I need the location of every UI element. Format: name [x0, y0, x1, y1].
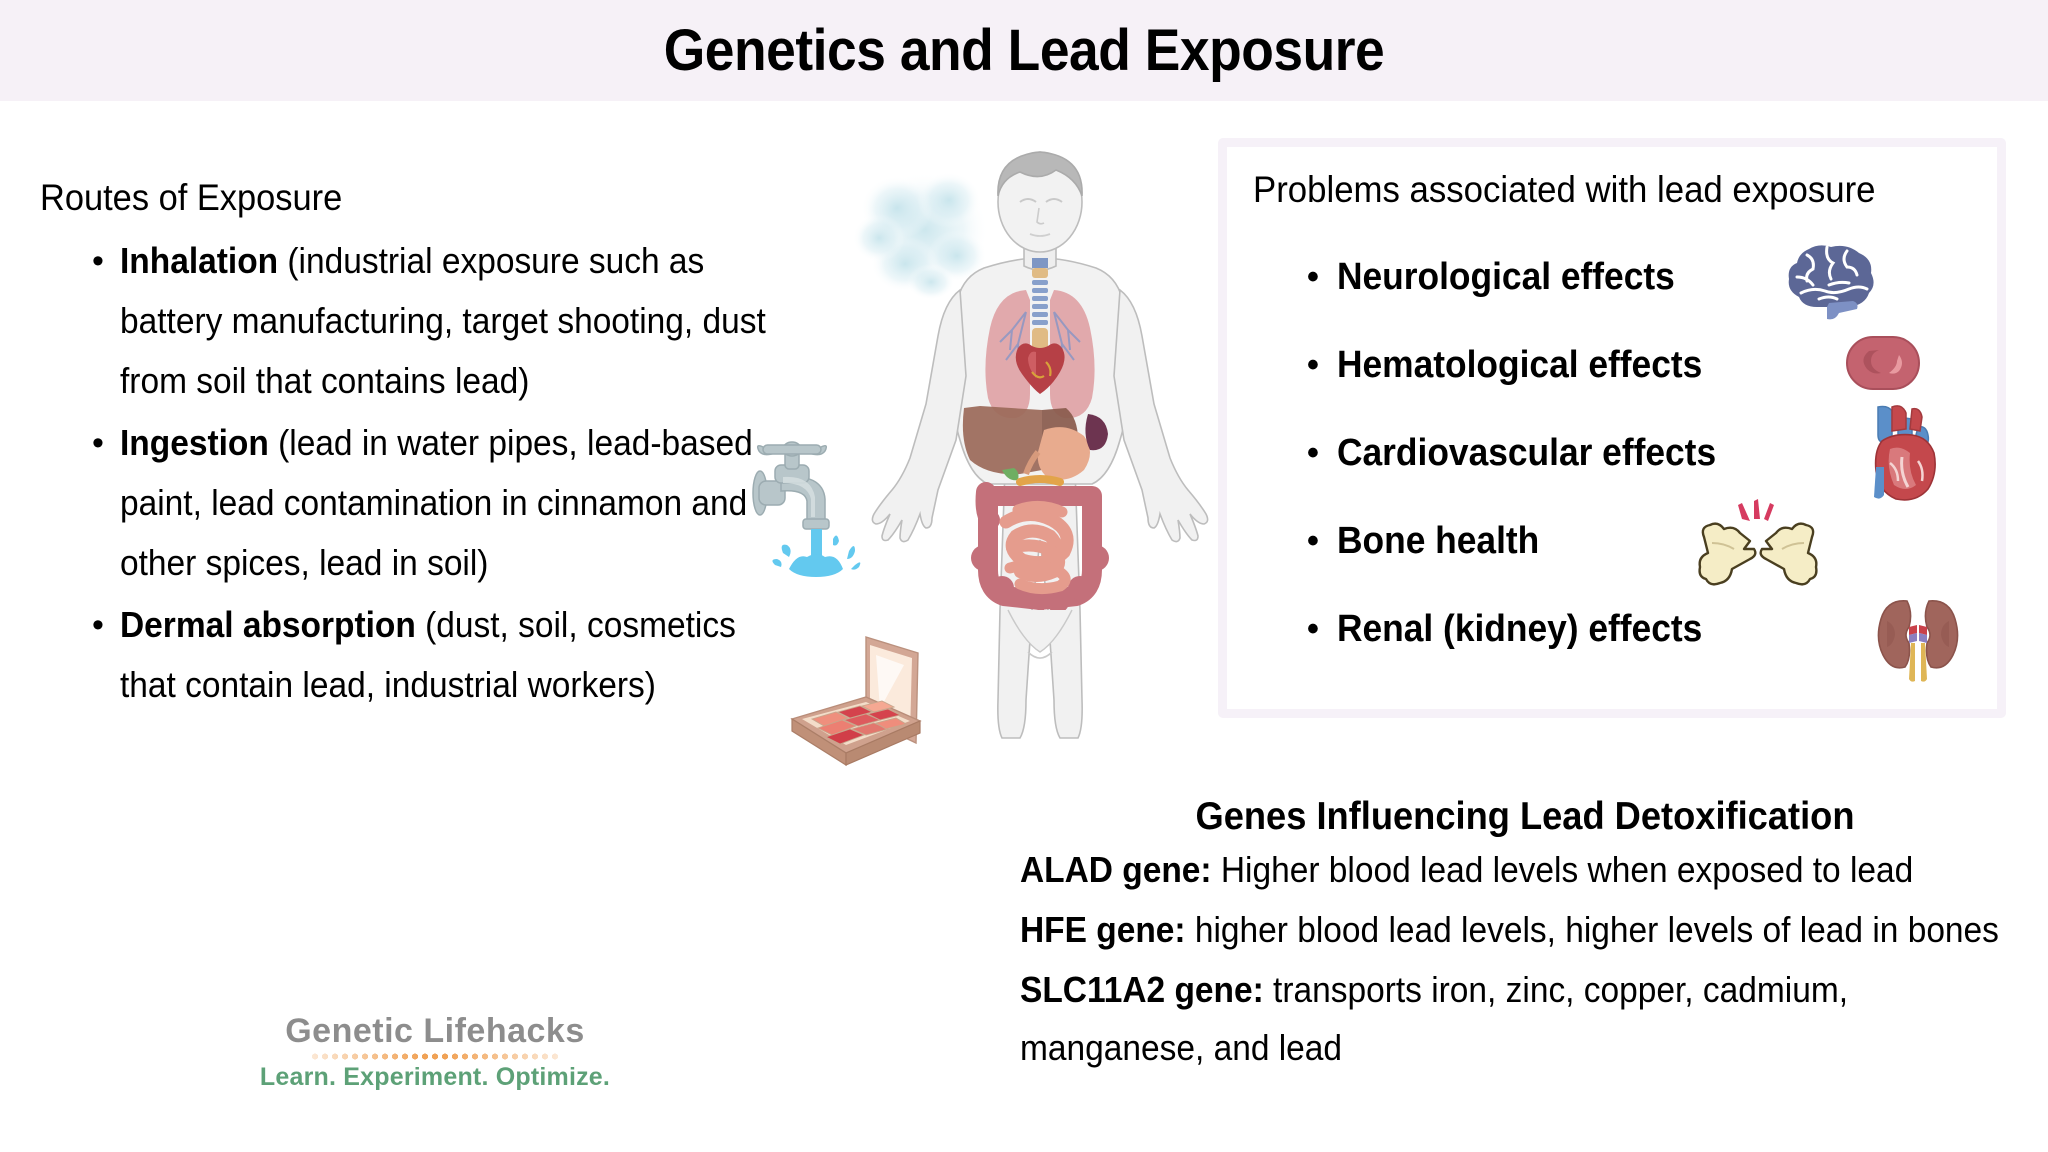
list-item: Neurological effects [1273, 247, 1973, 335]
gene-name: ALAD gene: [1020, 849, 1212, 890]
routes-list: Inhalation (industrial exposure such as … [40, 231, 840, 715]
broken-bone-icon [1698, 499, 1818, 595]
list-item: Renal (kidney) effects [1273, 599, 1973, 687]
heart-icon [1868, 401, 1942, 505]
gene-entry: SLC11A2 gene: transports iron, zinc, cop… [1020, 961, 2030, 1077]
makeup-palette-illustration [780, 625, 940, 775]
list-item: Ingestion (lead in water pipes, lead-bas… [40, 413, 800, 593]
gene-entry: ALAD gene: Higher blood lead levels when… [1020, 841, 2030, 899]
route-term: Inhalation [120, 240, 278, 281]
problems-heading: Problems associated with lead exposure [1253, 169, 1876, 211]
kidneys-icon [1873, 593, 1963, 685]
header-bar: Genetics and Lead Exposure [0, 0, 2048, 101]
gene-name: HFE gene: [1020, 909, 1186, 950]
slide-canvas: Genetics and Lead Exposure Routes of Exp… [0, 0, 2048, 1152]
gene-description: higher blood lead levels, higher levels … [1186, 909, 1999, 950]
route-term: Dermal absorption [120, 604, 416, 645]
problems-panel: Problems associated with lead exposure N… [1218, 138, 2006, 718]
genes-section: Genes Influencing Lead Detoxification AL… [1020, 795, 2030, 1077]
problem-label: Renal (kidney) effects [1337, 599, 1702, 659]
logo-dot-divider [312, 1052, 558, 1061]
problems-list: Neurological effects [1273, 247, 1973, 687]
problem-label: Hematological effects [1337, 335, 1702, 395]
gene-entry: HFE gene: higher blood lead levels, high… [1020, 901, 2030, 959]
list-item: Bone health [1273, 511, 1973, 599]
page-title: Genetics and Lead Exposure [82, 0, 1966, 101]
routes-of-exposure-section: Routes of Exposure Inhalation (industria… [40, 175, 840, 717]
gene-name: SLC11A2 gene: [1020, 969, 1264, 1010]
red-blood-cell-icon [1843, 333, 1923, 393]
list-item: Inhalation (industrial exposure such as … [40, 231, 800, 411]
problem-label: Neurological effects [1337, 247, 1675, 307]
logo-name: Genetic Lifehacks [255, 1012, 615, 1051]
route-term: Ingestion [120, 422, 269, 463]
brain-icon [1783, 233, 1879, 321]
water-faucet-illustration [745, 425, 925, 585]
problem-label: Cardiovascular effects [1337, 423, 1716, 483]
problem-label: Bone health [1337, 511, 1539, 571]
routes-heading: Routes of Exposure [40, 175, 784, 221]
list-item: Dermal absorption (dust, soil, cosmetics… [40, 595, 800, 715]
logo-tagline: Learn. Experiment. Optimize. [255, 1063, 615, 1092]
list-item: Cardiovascular effects [1273, 423, 1973, 511]
gene-description: Higher blood lead levels when exposed to… [1212, 849, 1914, 890]
genetic-lifehacks-logo: Genetic Lifehacks Learn. Experiment. Opt… [255, 1012, 615, 1092]
genes-heading: Genes Influencing Lead Detoxification [1055, 795, 1994, 839]
